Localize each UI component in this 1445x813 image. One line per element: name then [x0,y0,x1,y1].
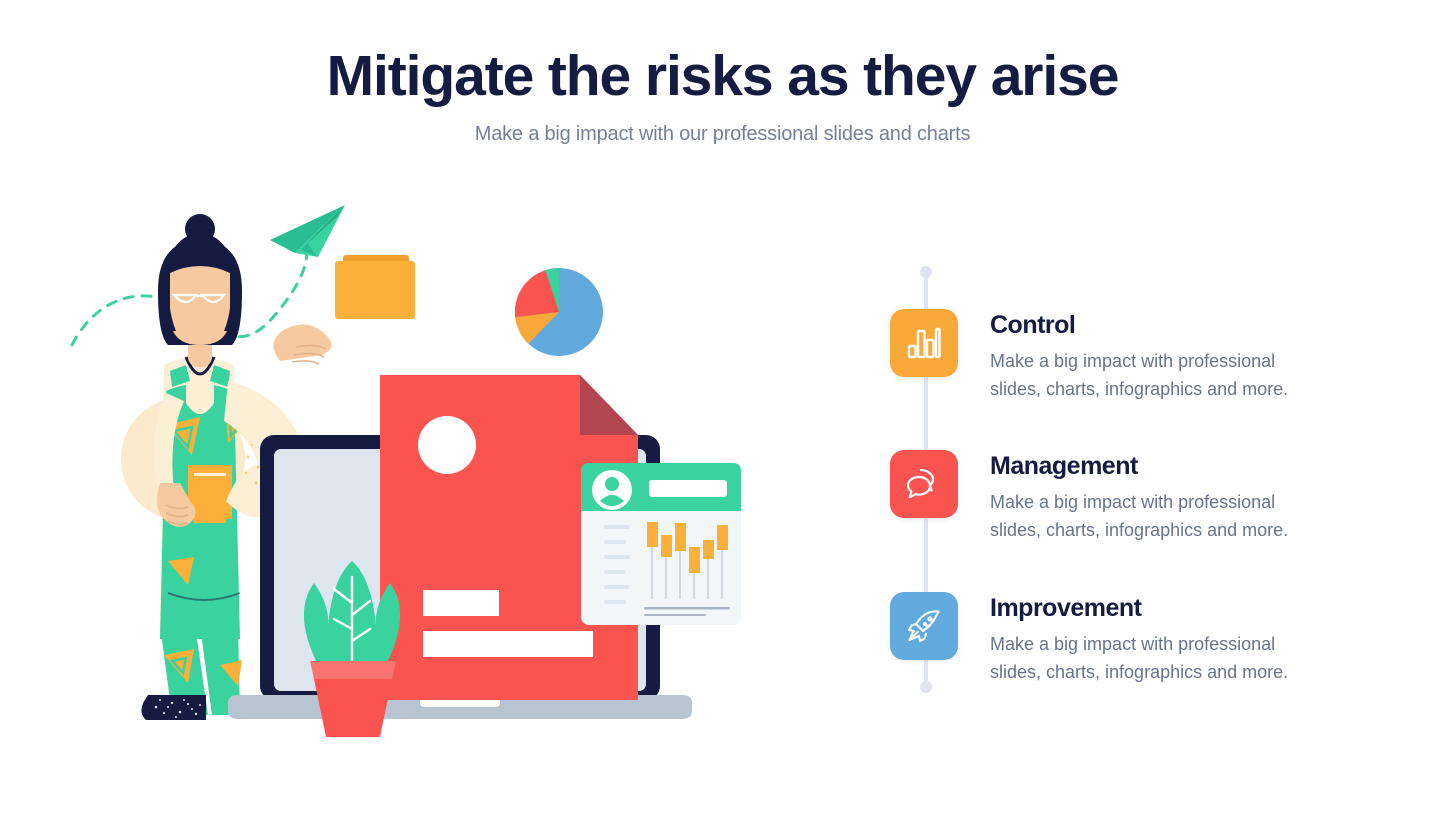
feature-text-control: Control Make a big impact with professio… [990,309,1330,403]
feature-item-management[interactable]: Management Make a big impact with profes… [890,450,1330,544]
feature-description: Make a big impact with professional slid… [990,630,1330,686]
feature-title: Improvement [990,593,1330,623]
folder-icon [335,255,415,319]
bar-chart-icon [907,327,941,359]
business-analytics-illustration [60,195,760,740]
rocket-icon [907,609,941,643]
page-title: Mitigate the risks as they arise [0,42,1445,110]
timeline-dot-top [920,266,932,278]
paper-plane-icon [270,205,345,257]
slide: Mitigate the risks as they arise Make a … [0,0,1445,813]
feature-icon-improvement[interactable] [890,592,958,660]
pie-chart [515,268,603,356]
slide-header: Mitigate the risks as they arise Make a … [0,42,1445,147]
feature-timeline: Control Make a big impact with professio… [890,260,1360,700]
feature-title: Management [990,451,1330,481]
feature-item-control[interactable]: Control Make a big impact with professio… [890,309,1330,403]
right-hand [273,324,331,364]
feature-text-improvement: Improvement Make a big impact with profe… [990,592,1330,686]
feature-description: Make a big impact with professional slid… [990,347,1330,403]
feature-title: Control [990,310,1330,340]
feature-icon-control[interactable] [890,309,958,377]
dashboard-card [581,463,741,625]
feature-item-improvement[interactable]: Improvement Make a big impact with profe… [890,592,1330,686]
feature-text-management: Management Make a big impact with profes… [990,450,1330,544]
feature-description: Make a big impact with professional slid… [990,488,1330,544]
page-subtitle: Make a big impact with our professional … [0,121,1445,147]
chat-bubbles-icon [906,468,942,500]
feature-icon-management[interactable] [890,450,958,518]
